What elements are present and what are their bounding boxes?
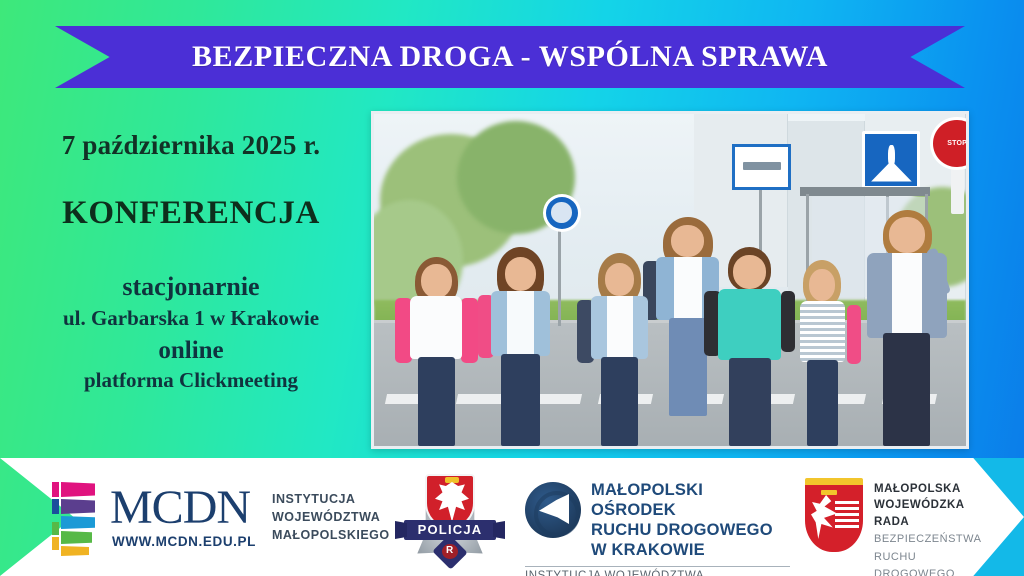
photo-bus-shelter-roof xyxy=(800,187,930,196)
photo-legs xyxy=(883,333,930,446)
mcdn-vbar xyxy=(52,499,59,514)
event-type: KONFERENCJA xyxy=(26,195,356,232)
mord-subline: INSTYTUCJA WOJEWÓDZTWA MAŁOPOLSKIEGO xyxy=(525,570,790,576)
photo-person-child-3 xyxy=(581,253,658,446)
mcdn-institution-line-2: WOJEWÓDZTWA xyxy=(272,509,390,527)
mcdn-wordmark: MCDN WWW.MCDN.EDU.PL xyxy=(110,484,256,549)
shield-stripe xyxy=(835,507,859,510)
event-details: 7 października 2025 r. KONFERENCJA stacj… xyxy=(26,130,356,393)
photo-head xyxy=(733,255,766,289)
mord-arrow-icon xyxy=(539,494,569,524)
photo-head xyxy=(809,269,835,301)
photo-vest-left xyxy=(491,291,507,357)
logo-mwrbrd: MAŁOPOLSKA WOJEWÓDZKA RADA BEZPIECZEŃSTW… xyxy=(805,478,981,576)
online-platform: platforma Clickmeeting xyxy=(26,368,356,393)
photo-torso xyxy=(410,296,462,358)
mwrbrd-wordmark: MAŁOPOLSKA WOJEWÓDZKA RADA BEZPIECZEŃSTW… xyxy=(874,478,981,576)
photo-round-sign-inner xyxy=(551,202,571,222)
ribbon-shape: BEZPIECZNA DROGA - WSPÓLNA SPRAWA xyxy=(55,26,965,88)
event-date: 7 października 2025 r. xyxy=(26,130,356,161)
white-eagle-icon xyxy=(811,495,837,539)
title-ribbon: BEZPIECZNA DROGA - WSPÓLNA SPRAWA xyxy=(55,26,965,88)
hero-photo: STOP xyxy=(371,111,969,449)
photo-vest-right xyxy=(633,296,648,360)
photo-bus-stop-sign xyxy=(732,144,791,190)
photo-person-child-5 xyxy=(788,260,856,446)
photo-vest-left xyxy=(591,296,606,360)
mcdn-institution-line-3: MAŁOPOLSKIEGO xyxy=(272,527,390,545)
photo-head xyxy=(605,263,634,296)
photo-stop-sign-handle xyxy=(951,167,964,213)
shield-body xyxy=(805,485,863,552)
mcdn-institution: INSTYTUCJA WOJEWÓDZTWA MAŁOPOLSKIEGO xyxy=(272,491,390,544)
white-eagle-icon xyxy=(435,482,469,522)
photo-person-child-1 xyxy=(398,257,475,446)
mcdn-name: MCDN xyxy=(110,484,256,532)
malopolska-shield-icon xyxy=(805,478,863,552)
photo-legs xyxy=(601,357,638,446)
photo-round-sign xyxy=(543,194,581,232)
mcdn-bar xyxy=(61,531,92,544)
logo-policja: POLICJA R xyxy=(400,472,500,567)
mode-online: online xyxy=(26,337,356,365)
mwrbrd-sub-1: BEZPIECZEŃSTWA xyxy=(874,532,981,548)
photo-legs xyxy=(807,360,838,446)
mwrbrd-line-2: WOJEWÓDZKA xyxy=(874,497,981,513)
mord-line-3: W KRAKOWIE xyxy=(591,540,790,560)
logo-mord: MAŁOPOLSKI OŚRODEK RUCHU DROGOWEGO W KRA… xyxy=(525,480,790,576)
photo-legs xyxy=(669,318,707,416)
photo-crossing-glyph xyxy=(871,161,912,182)
mcdn-bar xyxy=(61,482,95,497)
mord-emblem-icon xyxy=(525,482,581,538)
mcdn-vbar xyxy=(52,482,59,497)
photo-person-teacher xyxy=(859,210,954,446)
mord-wordmark: MAŁOPOLSKI OŚRODEK RUCHU DROGOWEGO W KRA… xyxy=(591,480,790,561)
shield-stripe xyxy=(835,501,859,504)
poster-root: { "poster": { "title": "BEZPIECZNA DROGA… xyxy=(0,0,1024,576)
mcdn-vbar xyxy=(52,537,59,550)
photo-head xyxy=(421,264,452,298)
photo-legs xyxy=(501,354,539,446)
photo-legs xyxy=(418,357,455,446)
photo-torso xyxy=(718,289,781,361)
page-title: BEZPIECZNA DROGA - WSPÓLNA SPRAWA xyxy=(192,40,828,74)
mord-divider xyxy=(525,566,790,567)
photo-jacket-left xyxy=(867,253,892,338)
photo-pedestrian-crossing-sign xyxy=(862,131,920,189)
mwrbrd-sub-2: RUCHU xyxy=(874,550,981,566)
mode-onsite: stacjonarnie xyxy=(26,272,356,302)
photo-head xyxy=(505,257,537,291)
photo-person-child-2 xyxy=(481,247,561,446)
photo-backpack-strap xyxy=(461,298,478,362)
mord-line-1: MAŁOPOLSKI OŚRODEK xyxy=(591,480,790,520)
photo-torso xyxy=(800,301,845,362)
shield-stripe xyxy=(835,513,859,516)
police-center-letter: R xyxy=(446,545,453,556)
mwrbrd-line-1: MAŁOPOLSKA xyxy=(874,481,981,497)
mcdn-color-bars-icon xyxy=(52,480,104,552)
stop-sign-label: STOP xyxy=(947,140,967,147)
mwrbrd-sub-3: DROGOWEGO xyxy=(874,567,981,576)
mcdn-institution-line-1: INSTYTUCJA xyxy=(272,491,390,509)
shield-stripe xyxy=(835,519,859,522)
mcdn-url: WWW.MCDN.EDU.PL xyxy=(112,534,256,549)
mord-line-2: RUCHU DROGOWEGO xyxy=(591,520,790,540)
photo-vest-right xyxy=(534,291,550,357)
photo-vest-left xyxy=(656,257,673,321)
photo-head xyxy=(671,225,704,257)
mcdn-bar xyxy=(61,546,89,556)
photo-backpack xyxy=(395,298,412,362)
mcdn-bar xyxy=(61,499,95,514)
eagle-crown-icon xyxy=(821,490,837,495)
mcdn-vbar xyxy=(52,522,59,535)
venue-address: ul. Garbarska 1 w Krakowie xyxy=(26,306,356,331)
logo-strip: MCDN WWW.MCDN.EDU.PL INSTYTUCJA WOJEWÓDZ… xyxy=(0,458,1024,576)
photo-person-boy xyxy=(708,247,791,446)
photo-backpack-strap xyxy=(781,291,795,353)
photo-head xyxy=(889,217,925,252)
shield-top-band xyxy=(805,478,863,485)
photo-legs xyxy=(729,358,770,446)
logo-mcdn: MCDN WWW.MCDN.EDU.PL INSTYTUCJA WOJEWÓDZ… xyxy=(52,480,390,552)
mcdn-bar xyxy=(61,516,95,529)
mwrbrd-line-3: RADA xyxy=(874,514,981,530)
shield-stripe xyxy=(835,525,859,528)
